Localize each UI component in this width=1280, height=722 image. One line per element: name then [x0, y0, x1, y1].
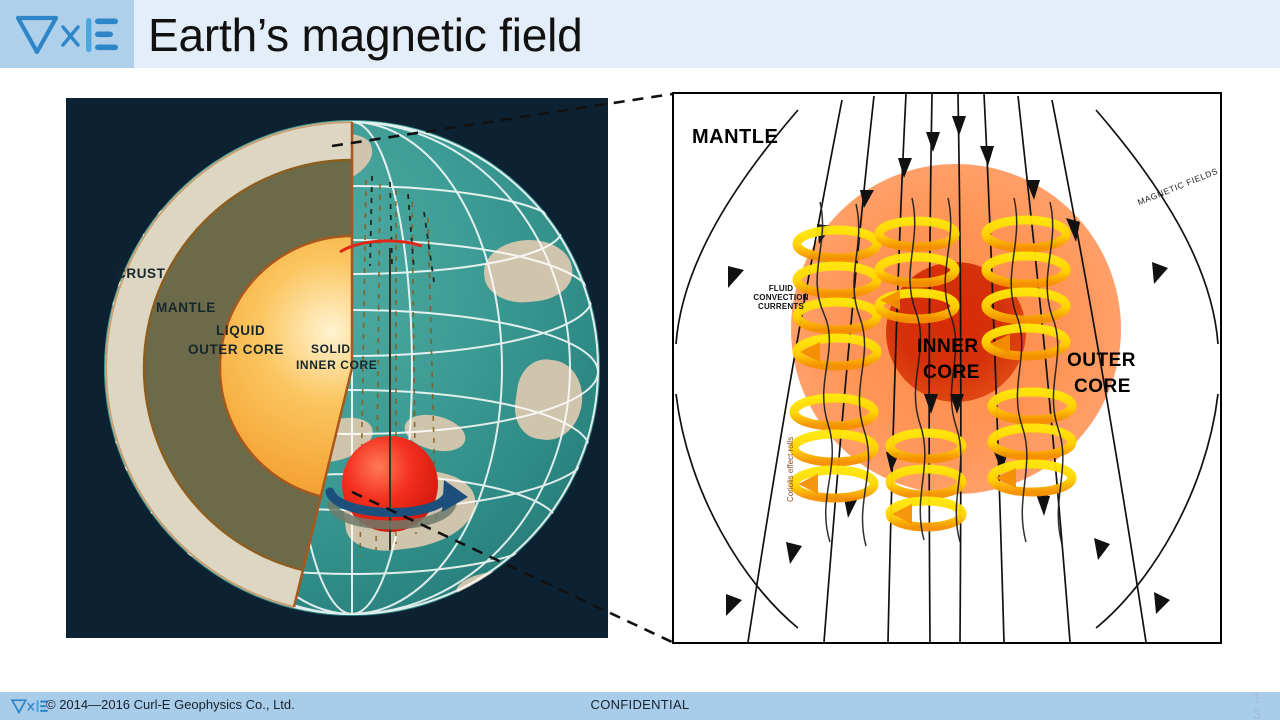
geodynamo-panel[interactable]: MANTLE MAGNETIC FIELDS FLUID CONVECTION …: [672, 92, 1222, 644]
label-mantle: MANTLE: [156, 300, 216, 315]
label-outer-core-1: OUTER: [1067, 350, 1136, 372]
earth-cutaway-panel[interactable]: CRUST MANTLE LIQUID OUTER CORE SOLID INN…: [66, 98, 608, 638]
fluid-line-3: CURRENTS: [746, 302, 816, 311]
label-inner-core-2: CORE: [923, 362, 980, 384]
label-fluid-convection-currents: FLUID CONVECTION CURRENTS: [746, 284, 816, 311]
page-title: Earth’s magnetic field: [148, 2, 1248, 68]
slide-footer: © 2014—2016 Curl-E Geophysics Co., Ltd. …: [0, 692, 1280, 720]
fluid-line-2: CONVECTION: [746, 293, 816, 302]
curl-e-logo-icon: [12, 10, 124, 58]
page-number: 1 3: [1242, 690, 1272, 722]
label-inner-core-2: INNER CORE: [296, 358, 377, 372]
convection-roll: [986, 220, 1066, 356]
footer-classification: CONFIDENTIAL: [0, 697, 1280, 712]
label-outer-core-2: OUTER CORE: [188, 342, 284, 357]
slide: Earth’s magnetic field: [0, 0, 1280, 720]
label-inner-core-1: SOLID: [311, 342, 351, 356]
label-coriolis-effect-rolls: Coriolis effect rolls: [786, 437, 795, 502]
fluid-line-1: FLUID: [746, 284, 816, 293]
label-outer-core-1: LIQUID: [216, 323, 265, 338]
slide-header: Earth’s magnetic field: [0, 0, 1280, 68]
page-number-line-1: 1: [1242, 690, 1272, 706]
label-outer-core-2: CORE: [1074, 376, 1131, 398]
label-mantle: MANTLE: [692, 126, 778, 149]
label-inner-core-1: INNER: [917, 336, 979, 358]
brand-logo-box: [0, 0, 134, 68]
label-crust: CRUST: [116, 266, 166, 281]
